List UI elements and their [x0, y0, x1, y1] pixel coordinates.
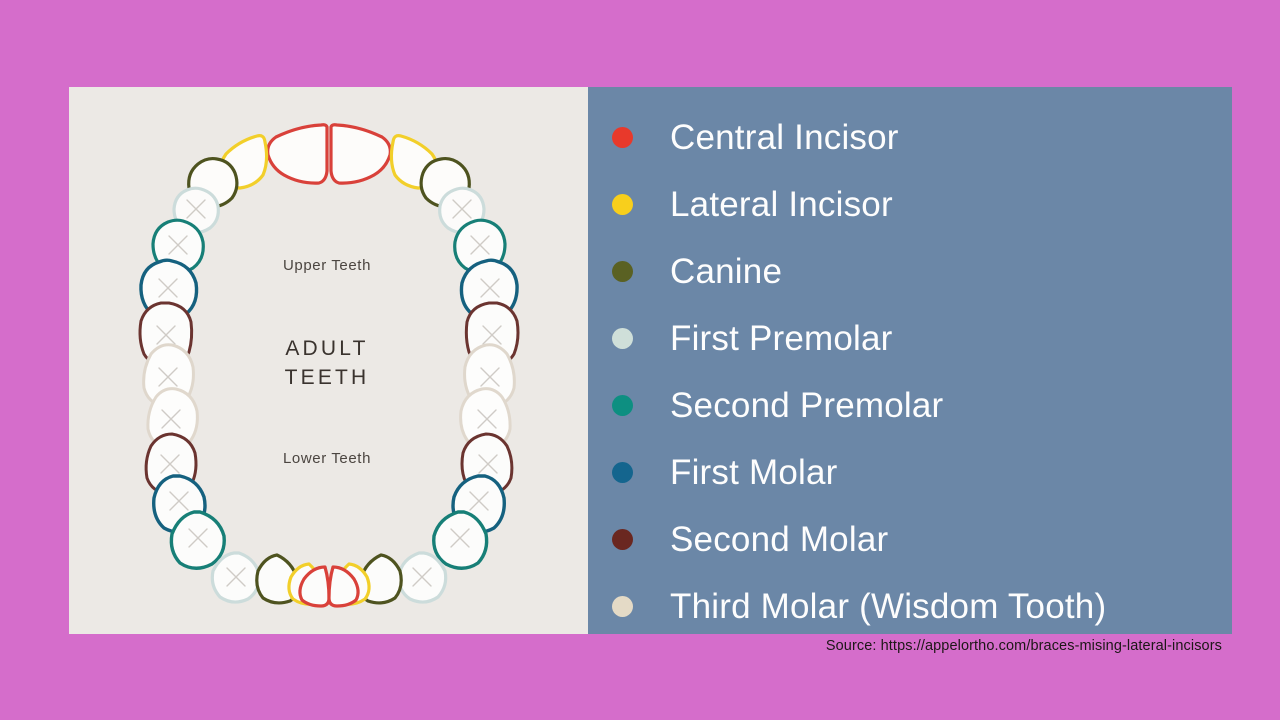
legend-item-canine[interactable]: Canine [588, 238, 1232, 305]
legend-color-dot-first-premolar [612, 328, 633, 349]
legend-item-central-incisor[interactable]: Central Incisor [588, 104, 1232, 171]
source-caption: Source: https://appelortho.com/braces-mi… [826, 638, 1222, 654]
legend-label-canine: Canine [670, 254, 782, 289]
tooth-lower-right-first-premolar [399, 553, 446, 602]
legend-item-third-molar[interactable]: Third Molar (Wisdom Tooth) [588, 573, 1232, 640]
tooth-lower-left-second-premolar [171, 512, 224, 568]
tooth-upper-right-central-incisor [331, 125, 390, 183]
legend-item-first-premolar[interactable]: First Premolar [588, 305, 1232, 372]
legend-color-dot-second-premolar [612, 395, 633, 416]
legend-label-third-molar: Third Molar (Wisdom Tooth) [670, 589, 1106, 624]
legend-item-second-premolar[interactable]: Second Premolar [588, 372, 1232, 439]
legend-item-lateral-incisor[interactable]: Lateral Incisor [588, 171, 1232, 238]
legend-color-dot-canine [612, 261, 633, 282]
tooth-lower-left-first-premolar [212, 553, 259, 602]
legend-label-first-premolar: First Premolar [670, 321, 893, 356]
tooth-lower-right-second-premolar [434, 512, 487, 568]
slide-canvas: Upper Teeth ADULT TEETH Lower Teeth [0, 0, 1280, 720]
upper-teeth-label: Upper Teeth [283, 257, 371, 274]
legend-list: Central Incisor Lateral Incisor Canine F… [588, 87, 1232, 640]
tooth-upper-left-central-incisor [268, 125, 327, 183]
legend-label-second-molar: Second Molar [670, 522, 888, 557]
lower-teeth-label: Lower Teeth [283, 450, 371, 467]
legend-label-central-incisor: Central Incisor [670, 120, 899, 155]
diagram-title-line2: TEETH [285, 366, 370, 389]
legend-color-dot-central-incisor [612, 127, 633, 148]
tooth-legend-panel: Central Incisor Lateral Incisor Canine F… [588, 87, 1232, 634]
legend-color-dot-lateral-incisor [612, 194, 633, 215]
tooth-diagram-panel: Upper Teeth ADULT TEETH Lower Teeth [69, 87, 588, 634]
legend-color-dot-first-molar [612, 462, 633, 483]
legend-label-first-molar: First Molar [670, 455, 837, 490]
legend-color-dot-second-molar [612, 529, 633, 550]
legend-label-lateral-incisor: Lateral Incisor [670, 187, 893, 222]
legend-label-second-premolar: Second Premolar [670, 388, 943, 423]
legend-item-first-molar[interactable]: First Molar [588, 439, 1232, 506]
legend-color-dot-third-molar [612, 596, 633, 617]
diagram-title-line1: ADULT [285, 337, 368, 360]
legend-item-second-molar[interactable]: Second Molar [588, 506, 1232, 573]
dental-arch-diagram: Upper Teeth ADULT TEETH Lower Teeth [69, 87, 588, 634]
